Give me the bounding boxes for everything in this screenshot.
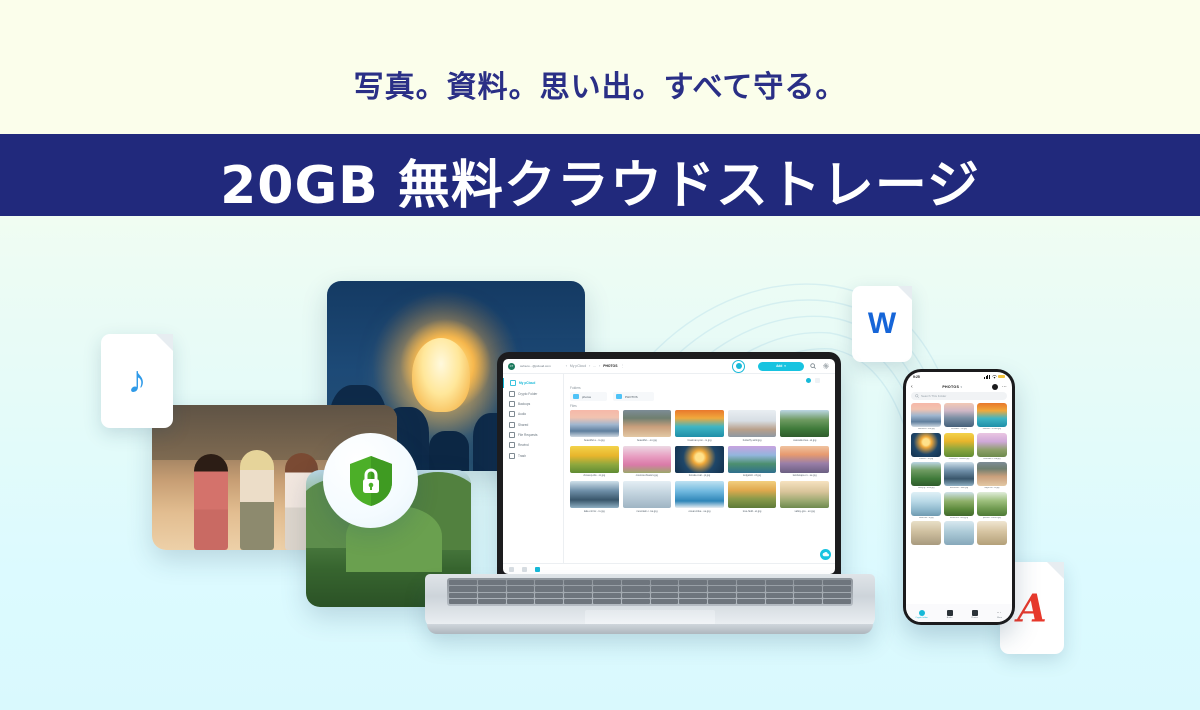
photo-name: valley-g...reen.jpg — [911, 487, 941, 489]
file-thumbnail — [570, 410, 619, 437]
tab-photos[interactable]: Photos — [971, 610, 978, 619]
photo-tile[interactable]: valley-g...reen.jpg — [911, 462, 941, 489]
file-thumbnail — [675, 481, 724, 508]
folders-section-label: Folders — [570, 386, 829, 390]
file-tile[interactable]: landscape-m...se.jpg — [780, 446, 829, 478]
file-tile[interactable]: cascade-hea...el.jpg — [780, 410, 829, 442]
file-thumbnail — [675, 446, 724, 473]
photo-tile[interactable]: ridge-cre...st.jpg — [977, 462, 1007, 489]
battery-icon — [998, 375, 1005, 378]
file-tile[interactable]: closeup-sfe...ro.jpg — [570, 446, 619, 478]
hero-headline: 20GB 無料クラウドストレージ — [0, 143, 1200, 218]
tab-more[interactable]: ⋯ More — [997, 610, 1003, 619]
laptop-base — [425, 574, 875, 630]
add-button[interactable]: Add ▾ — [758, 362, 804, 371]
status-icons — [984, 375, 1005, 379]
sidebar-item-label: Shared — [518, 423, 528, 427]
search-icon[interactable] — [809, 362, 817, 370]
photo-name: autumn-...s-lake.jpg — [977, 428, 1007, 430]
file-name: kolgaloll...rd.jpg — [728, 474, 777, 477]
tab-label: Photos — [971, 617, 978, 619]
account-icon[interactable] — [992, 384, 998, 390]
photo-tile[interactable]: pathwa...sunset.jpg — [977, 492, 1007, 519]
laptop-keyboard — [447, 578, 853, 606]
more-dots-icon: ⋯ — [997, 610, 1003, 616]
file-thumbnail — [780, 481, 829, 508]
file-name: butterfly-wild.jpg — [728, 439, 777, 442]
file-thumbnail — [728, 410, 777, 437]
page-fold-corner — [1047, 562, 1064, 579]
photo-thumbnail — [911, 403, 941, 427]
security-shield-badge — [323, 433, 418, 528]
breadcrumb-ellipsis[interactable]: ... — [593, 364, 596, 368]
file-tile[interactable]: valley-gre...en.jpg — [780, 481, 829, 513]
chevron-left-icon[interactable]: ‹ — [911, 384, 913, 390]
file-thumbnail — [570, 446, 619, 473]
photo-name: sunset-m...ere.jpg — [911, 428, 941, 430]
file-name: valley-gre...en.jpg — [780, 510, 829, 513]
sidebar: My pCloud Crypto Folder Backups — [503, 374, 564, 563]
app-body: My pCloud Crypto Folder Backups — [503, 374, 835, 563]
file-name: ocean-blue...se.jpg — [675, 510, 724, 513]
wifi-icon — [992, 375, 997, 379]
file-name: closeup-sfe...ro.jpg — [570, 474, 619, 477]
help-fab-button[interactable] — [820, 549, 831, 560]
backup-icon — [509, 401, 515, 407]
sort-icon[interactable] — [806, 378, 811, 383]
file-name: beautiful-s...ro.jpg — [570, 439, 619, 442]
laptop-lid: CT ceha.to...@pcloud.com ‹ My pCloud › .… — [497, 352, 841, 580]
photo-tile[interactable] — [977, 521, 1007, 545]
sidebar-item-trash[interactable]: Trash — [503, 451, 563, 461]
grid-view-icon[interactable] — [815, 378, 820, 383]
file-thumbnail — [623, 410, 672, 437]
file-thumbnail — [728, 481, 777, 508]
photo-name: mountain-...lake.jpg — [944, 487, 974, 489]
sidebar-item-shared[interactable]: Shared — [503, 420, 563, 430]
file-tile[interactable]: boatman-pon...m.jpg — [675, 410, 724, 442]
page-fold-corner — [156, 334, 173, 351]
photo-thumbnail — [911, 521, 941, 545]
chevron-down-icon: ▾ — [784, 364, 786, 368]
laptop-screen: CT ceha.to...@pcloud.com ‹ My pCloud › .… — [503, 359, 835, 574]
photo-thumbnail — [977, 462, 1007, 486]
word-glyph: W — [852, 307, 912, 341]
photo-tile[interactable]: lavender-f...eld.jpg — [977, 433, 1007, 460]
photo-tile[interactable]: mountain-...lake.jpg — [944, 462, 974, 489]
file-tile[interactable]: beautiful-s...ro.jpg — [570, 410, 619, 442]
file-request-icon — [509, 432, 515, 438]
file-thumbnail — [623, 481, 672, 508]
file-name: female-roar...pi.jpg — [675, 474, 724, 477]
page-fold-corner — [898, 286, 912, 300]
photo-thumbnail — [977, 521, 1007, 545]
file-thumbnail — [728, 446, 777, 473]
photo-thumbnail — [944, 521, 974, 545]
photo-tile[interactable]: swan-lak...e.jpg — [911, 492, 941, 519]
photo-thumbnail — [911, 492, 941, 516]
search-icon — [915, 394, 919, 398]
file-browser: Folders photos PHOTOS — [564, 374, 835, 563]
file-thumbnail — [570, 481, 619, 508]
add-button-label: Add — [776, 364, 782, 368]
audio-icon — [509, 411, 515, 417]
photo-tile[interactable]: lantern-...ht.jpg — [911, 433, 941, 460]
file-tile[interactable]: cosmos-flowers.jpg — [623, 446, 672, 478]
photo-tile[interactable]: sunset-m...ere.jpg — [911, 403, 941, 430]
folder-icon — [573, 394, 579, 399]
sidebar-item-label: Backups — [518, 402, 530, 406]
folder-chip[interactable]: photos — [570, 392, 607, 401]
phone-nav-bar: ‹ PHOTOS ▾ ⋯ — [906, 381, 1012, 392]
photo-thumbnail — [977, 403, 1007, 427]
phone-status-bar: 9:25 — [906, 372, 1012, 381]
file-name: landscape-m...se.jpg — [780, 474, 829, 477]
photo-tile[interactable]: autumn-...s-lake.jpg — [977, 403, 1007, 430]
photo-name: pathwa...sunset.jpg — [977, 517, 1007, 519]
phone-title-text: PHOTOS — [942, 385, 959, 389]
shared-icon — [509, 422, 515, 428]
photo-name: lantern-...ht.jpg — [911, 458, 941, 460]
cloud-icon — [510, 380, 516, 386]
more-vertical-icon[interactable]: ⋮ — [620, 364, 623, 368]
folder-label: PHOTOS — [625, 395, 638, 399]
file-name: cascade-hea...el.jpg — [780, 439, 829, 442]
breadcrumb-current: PHOTOS — [603, 364, 617, 368]
phone-device: 9:25 ‹ PHOTOS ▾ ⋯ Search This Folder — [903, 369, 1015, 625]
file-name: mountain-r...ke.jpg — [623, 510, 672, 513]
laptop-front-edge — [427, 624, 873, 634]
breadcrumb-root[interactable]: My pCloud — [570, 364, 586, 368]
sidebar-item-crypto-folder[interactable]: Crypto Folder — [503, 388, 563, 398]
breadcrumb: ‹ My pCloud › ... › PHOTOS ⋮ — [566, 364, 624, 368]
music-file-icon: ♪ — [101, 334, 173, 428]
photo-thumbnail — [911, 462, 941, 486]
hero-subtitle: 写真。資料。思い出。すべて守る。 — [0, 62, 1200, 106]
photo-name: ridge-cre...st.jpg — [977, 487, 1007, 489]
chevron-down-icon[interactable]: ▾ — [961, 385, 963, 389]
desktop-app-icon[interactable] — [509, 567, 514, 572]
file-name: cosmos-flowers.jpg — [623, 474, 672, 477]
photo-thumbnail — [977, 492, 1007, 516]
phone-page-title: PHOTOS ▾ — [917, 385, 988, 389]
file-name: beautiful-...on.jpg — [623, 439, 672, 442]
lock-shield-icon — [347, 454, 395, 508]
status-time: 9:25 — [913, 375, 920, 379]
photo-thumbnail — [977, 433, 1007, 457]
sidebar-item-label: Rewind — [518, 443, 529, 447]
pcloud-logo-icon — [732, 360, 745, 373]
phone-search-field[interactable]: Search This Folder — [911, 392, 1007, 400]
tab-label: Audio — [947, 617, 953, 619]
account-email: ceha.to...@pcloud.com — [520, 364, 551, 368]
sidebar-item-audio[interactable]: Audio — [503, 409, 563, 419]
photo-name: amount-d...alley.jpg — [944, 517, 974, 519]
file-name: tree-field...et.jpg — [728, 510, 777, 513]
files-section-label: Files — [570, 404, 829, 408]
breadcrumb-separator: › — [589, 364, 590, 368]
signal-icon — [984, 375, 990, 379]
phone-search-placeholder: Search This Folder — [921, 394, 946, 398]
photo-name: closeup-s...nflower.jpg — [944, 458, 974, 460]
promo-banner: 写真。資料。思い出。すべて守る。 20GB 無料クラウドストレージ — [0, 0, 1200, 710]
tab-crypto-folder[interactable]: Crypto folder — [915, 610, 928, 619]
sidebar-item-label: Audio — [518, 412, 526, 416]
file-tile[interactable]: tree-field...et.jpg — [728, 481, 777, 513]
photo-name: lavender-f...eld.jpg — [977, 458, 1007, 460]
breadcrumb-separator: › — [599, 364, 600, 368]
file-thumbnail — [623, 446, 672, 473]
file-tile[interactable]: lake-mirror...ro.jpg — [570, 481, 619, 513]
sidebar-item-label: Crypto Folder — [518, 392, 537, 396]
photo-thumbnail — [944, 433, 974, 457]
file-thumbnail — [675, 410, 724, 437]
phone-tab-bar: Crypto folder Audio Photos ⋯ More — [906, 604, 1012, 622]
photo-tile[interactable]: seaside1...ue.jpg — [944, 403, 974, 430]
more-horizontal-icon[interactable]: ⋯ — [1002, 384, 1007, 390]
avatar[interactable]: CT — [508, 363, 515, 370]
view-toolbar — [570, 378, 829, 383]
phone-photo-grid: sunset-m...ere.jpg seaside1...ue.jpg aut… — [906, 403, 1012, 622]
apps-grid-icon[interactable] — [522, 567, 527, 572]
photo-thumbnail — [944, 492, 974, 516]
file-tile[interactable]: mountain-r...ke.jpg — [623, 481, 672, 513]
word-file-icon: W — [852, 286, 912, 362]
laptop-device: CT ceha.to...@pcloud.com ‹ My pCloud › .… — [425, 352, 875, 652]
sidebar-item-my-pcloud[interactable]: My pCloud — [503, 378, 563, 388]
sidebar-item-rewind[interactable]: Rewind — [503, 440, 563, 450]
sidebar-item-file-requests[interactable]: File Requests — [503, 430, 563, 440]
sidebar-item-label: Trash — [518, 454, 526, 458]
pcloud-web-app: CT ceha.to...@pcloud.com ‹ My pCloud › .… — [503, 359, 835, 574]
photo-tile[interactable] — [944, 521, 974, 545]
photo-tile[interactable] — [911, 521, 941, 545]
lock-icon — [919, 610, 925, 616]
app-bottom-bar — [503, 563, 835, 574]
file-name: boatman-pon...m.jpg — [675, 439, 724, 442]
rewind-icon — [509, 442, 515, 448]
tab-audio[interactable]: Audio — [947, 610, 953, 619]
app-top-bar: CT ceha.to...@pcloud.com ‹ My pCloud › .… — [503, 359, 835, 374]
trash-icon — [509, 453, 515, 459]
headphones-icon — [947, 610, 953, 616]
photo-icon — [972, 610, 978, 616]
lock-icon — [509, 391, 515, 397]
file-tile[interactable]: butterfly-wild.jpg — [728, 410, 777, 442]
laptop-trackpad — [585, 610, 715, 625]
storage-meter-icon[interactable] — [535, 567, 540, 572]
folder-chip-list: photos PHOTOS — [570, 392, 829, 401]
file-tile[interactable]: female-roar...pi.jpg — [675, 446, 724, 478]
back-chevron-icon[interactable]: ‹ — [566, 364, 567, 368]
photo-tile[interactable]: closeup-s...nflower.jpg — [944, 433, 974, 460]
file-tile[interactable]: ocean-blue...se.jpg — [675, 481, 724, 513]
file-tile[interactable]: beautiful-...on.jpg — [623, 410, 672, 442]
photo-name: seaside1...ue.jpg — [944, 428, 974, 430]
photo-name: swan-lak...e.jpg — [911, 517, 941, 519]
sidebar-item-label: File Requests — [518, 433, 538, 437]
filter-icon[interactable] — [824, 378, 829, 383]
folder-chip[interactable]: PHOTOS — [613, 392, 654, 401]
folder-label: photos — [582, 395, 591, 399]
tab-label: More — [997, 617, 1002, 619]
music-note-glyph: ♪ — [101, 360, 173, 403]
sidebar-item-label: My pCloud — [519, 381, 535, 385]
photo-tile[interactable]: amount-d...alley.jpg — [944, 492, 974, 519]
file-thumbnail — [780, 410, 829, 437]
file-thumbnail — [780, 446, 829, 473]
sidebar-item-backups[interactable]: Backups — [503, 399, 563, 409]
tab-label: Crypto folder — [915, 617, 928, 619]
photo-thumbnail — [911, 433, 941, 457]
photo-thumbnail — [944, 403, 974, 427]
phone-screen: 9:25 ‹ PHOTOS ▾ ⋯ Search This Folder — [906, 372, 1012, 622]
file-name: lake-mirror...ro.jpg — [570, 510, 619, 513]
gear-icon[interactable] — [822, 362, 830, 370]
file-tile[interactable]: kolgaloll...rd.jpg — [728, 446, 777, 478]
folder-icon — [616, 394, 622, 399]
photo-thumbnail — [944, 462, 974, 486]
file-grid: beautiful-s...ro.jpg beautiful-...on.jpg… — [570, 410, 829, 513]
